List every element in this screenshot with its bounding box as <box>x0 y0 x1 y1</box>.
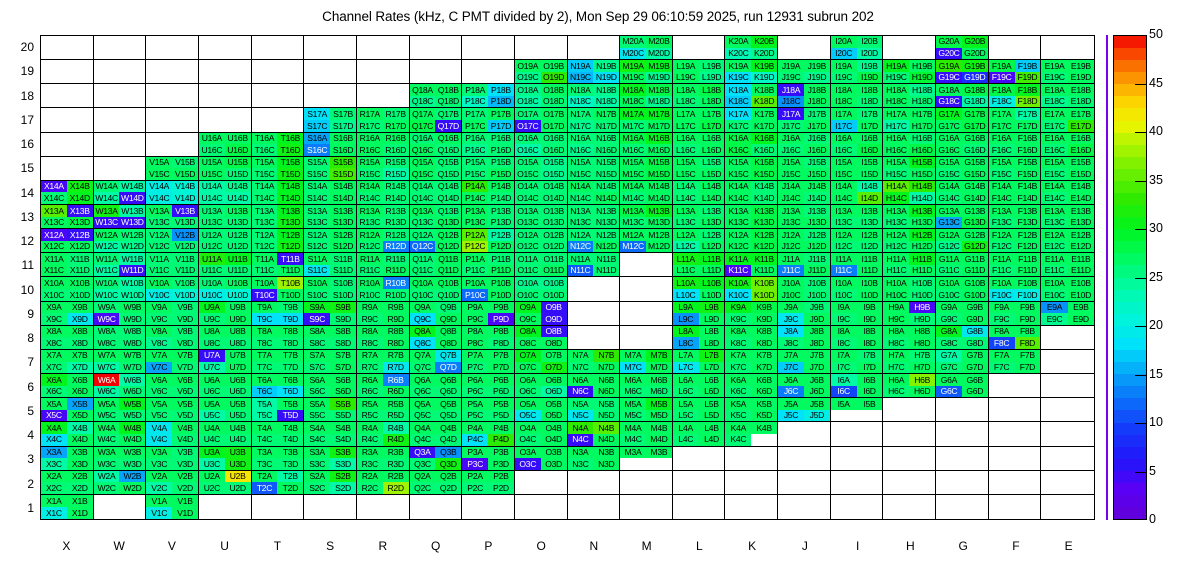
channel-subcell: P17C <box>462 120 488 132</box>
channel-subcell: M15B <box>646 157 672 169</box>
channel-subcell: E11D <box>1068 265 1094 277</box>
channel-subcell: R12B <box>383 229 409 241</box>
channel-subcell: X14C <box>41 192 67 204</box>
paddle-cell: W10AW10BW10CW10D <box>94 277 147 301</box>
channel-subcell: O18C <box>515 96 541 108</box>
channel-subcell: N15D <box>593 168 619 180</box>
channel-subcell: O14B <box>541 181 567 193</box>
channel-subcell: F11B <box>1015 253 1041 265</box>
channel-subcell: R15C <box>357 168 383 180</box>
channel-subcell: F19C <box>989 72 1015 84</box>
channel-subcell: U6B <box>225 374 251 386</box>
channel-subcell: G17C <box>936 120 962 132</box>
colorbar-tick-mark <box>1135 84 1147 85</box>
channel-subcell: R2B <box>383 471 409 483</box>
channel-subcell: R4B <box>383 422 409 434</box>
channel-subcell: I18C <box>831 96 857 108</box>
paddle-cell: S6AS6BS6CS6D <box>304 374 357 398</box>
channel-subcell: K11B <box>751 253 777 265</box>
paddle-cell-empty <box>831 471 884 495</box>
channel-subcell: N15C <box>568 168 594 180</box>
channel-subcell: V3A <box>146 447 172 459</box>
paddle-cell: P8AP8BP8CP8D <box>462 326 515 350</box>
paddle-cell: O18AO18BO18CO18D <box>515 84 568 108</box>
x-axis-tick: K <box>726 540 779 552</box>
channel-subcell: W7A <box>94 350 120 362</box>
channel-subcell: M5D <box>646 410 672 422</box>
page-title: Channel Rates (kHz, C PMT divided by 2),… <box>0 9 1196 24</box>
channel-subcell: P13C <box>462 217 488 229</box>
channel-subcell: X7B <box>67 350 93 362</box>
channel-subcell: O17A <box>515 108 541 120</box>
channel-subcell: H8C <box>883 337 909 349</box>
channel-subcell: V15D <box>172 168 198 180</box>
channel-subcell: I13C <box>831 217 857 229</box>
paddle-cell: V11AV11BV11CV11D <box>146 253 199 277</box>
paddle-cell: J11AJ11BJ11CJ11D <box>778 253 831 277</box>
paddle-cell-empty <box>1041 422 1094 446</box>
colorbar-tick-mark <box>1135 423 1147 424</box>
channel-subcell: X4D <box>67 434 93 446</box>
channel-subcell: G10D <box>962 289 988 301</box>
channel-subcell: Q4B <box>435 422 461 434</box>
channel-subcell: R5B <box>383 398 409 410</box>
channel-subcell: I17B <box>857 108 883 120</box>
paddle-cell-empty <box>620 253 673 277</box>
paddle-cell: T13AT13BT13CT13D <box>252 205 305 229</box>
channel-subcell: F9B <box>1015 302 1041 314</box>
channel-subcell: N11C <box>568 265 594 277</box>
channel-subcell: U15D <box>225 168 251 180</box>
paddle-cell-empty <box>304 60 357 84</box>
paddle-cell-empty <box>41 133 94 157</box>
channel-subcell: P7C <box>462 362 488 374</box>
channel-subcell: I10A <box>831 277 857 289</box>
channel-subcell: F18A <box>989 84 1015 96</box>
channel-subcell: O9A <box>515 302 541 314</box>
paddle-cell-empty <box>831 495 884 519</box>
channel-subcell: L11D <box>699 265 725 277</box>
paddle-cell-empty <box>989 447 1042 471</box>
paddle-cell: X7AX7BX7CX7D <box>41 350 94 374</box>
channel-subcell: S7D <box>330 362 356 374</box>
channel-subcell: G17D <box>962 120 988 132</box>
channel-subcell: R6D <box>383 386 409 398</box>
channel-subcell: W7C <box>94 362 120 374</box>
channel-subcell: U7A <box>199 350 225 362</box>
paddle-cell-empty <box>883 36 936 60</box>
channel-subcell: P8A <box>462 326 488 338</box>
paddle-cell: N16AN16BN16CN16D <box>568 133 621 157</box>
colorbar-edge <box>1106 35 1108 520</box>
channel-subcell: F11D <box>1015 265 1041 277</box>
channel-subcell: E9C <box>1041 313 1067 325</box>
paddle-cell: P9AP9BP9CP9D <box>462 302 515 326</box>
channel-subcell: P9B <box>488 302 514 314</box>
paddle-cell-empty <box>410 36 463 60</box>
channel-subcell: Q13B <box>435 205 461 217</box>
channel-subcell: L7D <box>699 362 725 374</box>
channel-subcell: O9B <box>541 302 567 314</box>
channel-subcell: V14B <box>172 181 198 193</box>
channel-subcell: M6B <box>646 374 672 386</box>
channel-subcell: G12D <box>962 241 988 253</box>
channel-subcell: L10C <box>673 289 699 301</box>
channel-subcell: R14B <box>383 181 409 193</box>
channel-subcell: Q2C <box>410 482 436 494</box>
channel-subcell: I16C <box>831 144 857 156</box>
channel-subcell: T8C <box>252 337 278 349</box>
channel-subcell: J13D <box>804 217 830 229</box>
paddle-cell: S15AS15BS15CS15D <box>304 157 357 181</box>
channel-subcell: J16D <box>804 144 830 156</box>
channel-subcell: W12B <box>119 229 145 241</box>
channel-subcell: U10C <box>199 289 225 301</box>
paddle-cell: U15AU15BU15CU15D <box>199 157 252 181</box>
channel-subcell: K14B <box>751 181 777 193</box>
channel-subcell: E17D <box>1068 120 1094 132</box>
channel-subcell: G18D <box>962 96 988 108</box>
channel-subcell: H7C <box>883 362 909 374</box>
channel-subcell: K9D <box>751 313 777 325</box>
x-axis-tick: S <box>304 540 357 552</box>
paddle-cell-empty <box>1041 326 1094 350</box>
channel-subcell: Q10A <box>410 277 436 289</box>
channel-subcell: J19A <box>778 60 804 72</box>
channel-subcell: F15A <box>989 157 1015 169</box>
channel-subcell: Q9B <box>435 302 461 314</box>
channel-subcell: P10D <box>488 289 514 301</box>
paddle-cell: I15AI15BI15CI15D <box>831 157 884 181</box>
channel-subcell: X11D <box>67 265 93 277</box>
channel-subcell: V12A <box>146 229 172 241</box>
paddle-cell: V15AV15BV15CV15D <box>146 157 199 181</box>
paddle-cell: P18AP18BP18CP18D <box>462 84 515 108</box>
channel-subcell: L8A <box>673 326 699 338</box>
channel-subcell: V2C <box>146 482 172 494</box>
channel-subcell: H13C <box>883 217 909 229</box>
channel-subcell: K15B <box>751 157 777 169</box>
channel-subcell: X3D <box>67 458 93 470</box>
channel-subcell: I14A <box>831 181 857 193</box>
colorbar-tick-mark <box>1135 375 1147 376</box>
paddle-cell-empty <box>936 471 989 495</box>
paddle-cell: R3AR3BR3CR3D <box>357 447 410 471</box>
channel-subcell: K15C <box>725 168 751 180</box>
channel-subcell: J10A <box>778 277 804 289</box>
channel-subcell: K9C <box>725 313 751 325</box>
channel-subcell: O6B <box>541 374 567 386</box>
channel-subcell: X9C <box>41 313 67 325</box>
paddle-cell: O10AO10BO10CO10D <box>515 277 568 301</box>
paddle-cell-empty <box>568 471 621 495</box>
channel-subcell: T15B <box>277 157 303 169</box>
channel-subcell: O11B <box>541 253 567 265</box>
channel-subcell: R16D <box>383 144 409 156</box>
paddle-cell: X3AX3BX3CX3D <box>41 447 94 471</box>
channel-subcell: S13D <box>330 217 356 229</box>
channel-subcell: P4C <box>462 434 488 446</box>
channel-subcell: L14D <box>699 192 725 204</box>
channel-subcell: E19C <box>1041 72 1067 84</box>
channel-subcell: G8B <box>962 326 988 338</box>
channel-subcell: K8A <box>725 326 751 338</box>
paddle-cell-empty <box>94 36 147 60</box>
channel-subcell: Q15B <box>435 157 461 169</box>
channel-subcell: W4D <box>119 434 145 446</box>
channel-subcell: I14C <box>831 192 857 204</box>
channel-subcell: J5A <box>778 398 804 410</box>
paddle-cell: K19AK19BK19CK19D <box>725 60 778 84</box>
channel-subcell: F8A <box>989 326 1015 338</box>
paddle-cell: V1AV1BV1CV1D <box>146 495 199 519</box>
channel-subcell: X4C <box>41 434 67 446</box>
channel-subcell: F10A <box>989 277 1015 289</box>
channel-subcell: U11B <box>225 253 251 265</box>
channel-subcell: Q16D <box>435 144 461 156</box>
channel-subcell: S14C <box>304 192 330 204</box>
channel-subcell: R8D <box>383 337 409 349</box>
channel-subcell: R4C <box>357 434 383 446</box>
channel-subcell: V12D <box>172 241 198 253</box>
channel-subcell: L6A <box>673 374 699 386</box>
channel-subcell: J19C <box>778 72 804 84</box>
paddle-cell-empty <box>199 84 252 108</box>
channel-subcell: T3C <box>252 458 278 470</box>
channel-subcell: X8B <box>67 326 93 338</box>
channel-subcell: P18B <box>488 84 514 96</box>
channel-subcell: F13C <box>989 217 1015 229</box>
channel-subcell: G13A <box>936 205 962 217</box>
channel-subcell: I13D <box>857 217 883 229</box>
channel-subcell: W11C <box>94 265 120 277</box>
channel-subcell: G11B <box>962 253 988 265</box>
channel-subcell: I12A <box>831 229 857 241</box>
channel-subcell: R3A <box>357 447 383 459</box>
channel-subcell: T12A <box>252 229 278 241</box>
channel-subcell: K13A <box>725 205 751 217</box>
channel-subcell: V15C <box>146 168 172 180</box>
channel-subcell: T12B <box>277 229 303 241</box>
channel-subcell: J7D <box>804 362 830 374</box>
channel-subcell: V12C <box>146 241 172 253</box>
channel-subcell: X5D <box>67 410 93 422</box>
channel-subcell: X14D <box>67 192 93 204</box>
channel-subcell: I17D <box>857 120 883 132</box>
channel-subcell: H12C <box>883 241 909 253</box>
channel-subcell: U9C <box>199 313 225 325</box>
channel-subcell: E15A <box>1041 157 1067 169</box>
channel-subcell: N15A <box>568 157 594 169</box>
paddle-cell: O5AO5BO5CO5D <box>515 398 568 422</box>
channel-subcell: J6C <box>778 386 804 398</box>
channel-subcell: W11D <box>119 265 145 277</box>
paddle-cell: V8AV8BV8CV8D <box>146 326 199 350</box>
paddle-cell-empty <box>883 471 936 495</box>
channel-subcell: T6D <box>277 386 303 398</box>
channel-subcell: F10C <box>989 289 1015 301</box>
paddle-cell: G10AG10BG10CG10D <box>936 277 989 301</box>
paddle-cell: Q16AQ16BQ16CQ16D <box>410 133 463 157</box>
paddle-cell: V14AV14BV14CV14D <box>146 181 199 205</box>
channel-subcell: U15B <box>225 157 251 169</box>
channel-subcell: K4A <box>725 422 751 434</box>
channel-subcell: K20A <box>725 36 751 48</box>
channel-subcell: R16A <box>357 133 383 145</box>
colorbar-tick-mark <box>1135 472 1147 473</box>
channel-subcell: P7D <box>488 362 514 374</box>
channel-subcell: E12B <box>1068 229 1094 241</box>
channel-subcell: U15C <box>199 168 225 180</box>
channel-subcell: K13B <box>751 205 777 217</box>
paddle-cell: Q10AQ10BQ10CQ10D <box>410 277 463 301</box>
paddle-cell: S16AS16BS16CS16D <box>304 133 357 157</box>
channel-subcell: S8B <box>330 326 356 338</box>
channel-subcell: F19D <box>1015 72 1041 84</box>
channel-subcell: I18D <box>857 96 883 108</box>
channel-subcell: N7A <box>568 350 594 362</box>
paddle-cell: U14AU14BU14CU14D <box>199 181 252 205</box>
channel-subcell: G13B <box>962 205 988 217</box>
channel-subcell: H12B <box>909 229 935 241</box>
paddle-cell: U4AU4BU4CU4D <box>199 422 252 446</box>
channel-subcell: F15C <box>989 168 1015 180</box>
channel-subcell: P15D <box>488 168 514 180</box>
channel-subcell: I19C <box>831 72 857 84</box>
paddle-cell: O3AO3BO3CO3D <box>515 447 568 471</box>
channel-subcell: S11C <box>304 265 330 277</box>
paddle-cell: E14AE14BE14CE14D <box>1041 181 1094 205</box>
channel-subcell: L10A <box>673 277 699 289</box>
channel-subcell: K19C <box>725 72 751 84</box>
channel-subcell: H19C <box>883 72 909 84</box>
channel-subcell: F8D <box>1015 337 1041 349</box>
channel-subcell: H11D <box>909 265 935 277</box>
channel-subcell: S11D <box>330 265 356 277</box>
paddle-cell: H7AH7BH7CH7D <box>883 350 936 374</box>
paddle-cell-empty <box>1041 471 1094 495</box>
channel-subcell: L4C <box>673 434 699 446</box>
channel-subcell: R3C <box>357 458 383 470</box>
y-axis: 2019181716151413121110987654321 <box>0 35 34 520</box>
channel-subcell: Q16A <box>410 133 436 145</box>
channel-subcell: I9A <box>831 302 857 314</box>
channel-subcell: W14B <box>119 181 145 193</box>
channel-subcell: R9A <box>357 302 383 314</box>
heatmap-plot: M20AM20BM20CM20DK20AK20BK20CK20DI20AI20B… <box>40 35 1095 520</box>
channel-subcell: L16A <box>673 133 699 145</box>
channel-subcell: O4B <box>541 422 567 434</box>
channel-subcell: S8D <box>330 337 356 349</box>
channel-subcell: P11D <box>488 265 514 277</box>
channel-subcell: K16B <box>751 133 777 145</box>
channel-subcell: U12A <box>199 229 225 241</box>
paddle-cell: U16AU16BU16CU16D <box>199 133 252 157</box>
channel-subcell: T8B <box>277 326 303 338</box>
channel-subcell: F9A <box>989 302 1015 314</box>
channel-subcell: P15B <box>488 157 514 169</box>
channel-subcell: Q3B <box>435 447 461 459</box>
channel-subcell: U5C <box>199 410 225 422</box>
channel-subcell: O17D <box>541 120 567 132</box>
y-axis-tick: 18 <box>8 90 34 102</box>
paddle-cell: S3AS3BS3CS3D <box>304 447 357 471</box>
paddle-cell: R17AR17BR17CR17D <box>357 108 410 132</box>
channel-subcell: O18B <box>541 84 567 96</box>
channel-subcell: I6A <box>831 374 857 386</box>
paddle-cell: K20AK20BK20CK20D <box>725 36 778 60</box>
channel-subcell: W4A <box>94 422 120 434</box>
paddle-cell: J8AJ8BJ8CJ8D <box>778 326 831 350</box>
channel-subcell: W12D <box>119 241 145 253</box>
paddle-cell: K13AK13BK13CK13D <box>725 205 778 229</box>
paddle-cell: E9AE9BE9CE9D <box>1041 302 1094 326</box>
channel-subcell: F10B <box>1015 277 1041 289</box>
channel-subcell: J15C <box>778 168 804 180</box>
y-axis-tick: 4 <box>8 429 34 441</box>
channel-subcell: W3A <box>94 447 120 459</box>
channel-subcell: I11C <box>831 265 857 277</box>
channel-subcell: T4A <box>252 422 278 434</box>
channel-subcell: M20C <box>620 48 646 60</box>
channel-subcell: T9B <box>277 302 303 314</box>
channel-subcell: S16D <box>330 144 356 156</box>
channel-subcell: O5A <box>515 398 541 410</box>
paddle-cell-empty <box>989 374 1042 398</box>
paddle-cell-empty <box>936 422 989 446</box>
paddle-cell: J5AJ5BJ5CJ5D <box>778 398 831 422</box>
channel-subcell <box>857 410 883 422</box>
channel-subcell: U16A <box>199 133 225 145</box>
channel-subcell: U13A <box>199 205 225 217</box>
channel-subcell: Q5C <box>410 410 436 422</box>
channel-subcell: O12C <box>515 241 541 253</box>
channel-subcell: V5B <box>172 398 198 410</box>
channel-subcell: X2B <box>67 471 93 483</box>
channel-subcell: J7B <box>804 350 830 362</box>
channel-subcell: Q14C <box>410 192 436 204</box>
channel-subcell: J18A <box>778 84 804 96</box>
x-axis-tick: U <box>198 540 251 552</box>
channel-subcell: R11A <box>357 253 383 265</box>
channel-subcell: N14C <box>568 192 594 204</box>
channel-subcell: O5D <box>541 410 567 422</box>
channel-subcell: J10D <box>804 289 830 301</box>
channel-subcell: X13A <box>41 205 67 217</box>
channel-subcell: I13B <box>857 205 883 217</box>
channel-subcell: T16C <box>252 144 278 156</box>
paddle-cell: O8AO8BO8CO8D <box>515 326 568 350</box>
paddle-cell: L10AL10BL10CL10D <box>673 277 726 301</box>
channel-subcell: E15C <box>1041 168 1067 180</box>
channel-subcell: N18C <box>568 96 594 108</box>
channel-subcell: H10A <box>883 277 909 289</box>
paddle-cell: H10AH10BH10CH10D <box>883 277 936 301</box>
channel-subcell: K14A <box>725 181 751 193</box>
paddle-cell: T12AT12BT12CT12D <box>252 229 305 253</box>
channel-subcell: O9C <box>515 313 541 325</box>
channel-subcell: L8D <box>699 337 725 349</box>
channel-subcell: X9B <box>67 302 93 314</box>
channel-subcell: E18B <box>1068 84 1094 96</box>
channel-subcell: S6C <box>304 386 330 398</box>
channel-subcell: J12D <box>804 241 830 253</box>
channel-subcell: R7C <box>357 362 383 374</box>
channel-subcell: H7D <box>909 362 935 374</box>
channel-subcell: E16D <box>1068 144 1094 156</box>
channel-subcell: V8D <box>172 337 198 349</box>
channel-subcell: H7A <box>883 350 909 362</box>
